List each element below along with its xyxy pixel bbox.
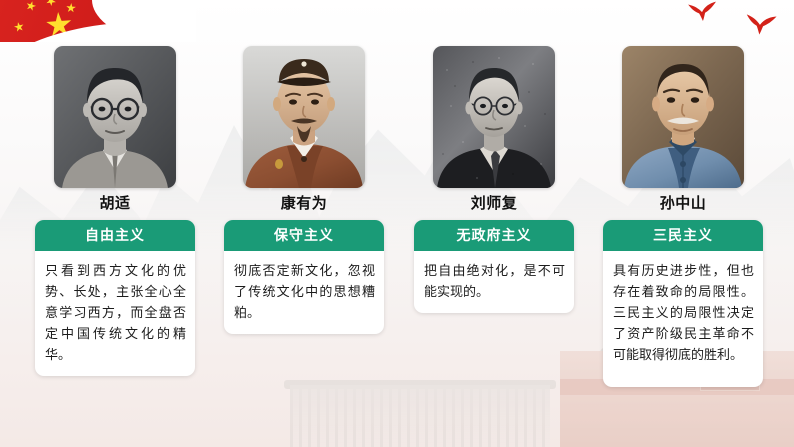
portrait-liu-shifu	[433, 46, 555, 188]
ideology-card: 自由主义 只看到西方文化的优势、长处，主张全心全意学习西方，而全盘否定中国传统文…	[35, 220, 195, 376]
figure-column: 康有为 保守主义 彻底否定新文化，忽视了传统文化中的思想糟粕。	[222, 46, 386, 334]
portrait-kang-youwei	[243, 46, 365, 188]
person-name: 刘师复	[471, 194, 518, 214]
card-title: 保守主义	[224, 220, 384, 251]
card-title: 自由主义	[35, 220, 195, 251]
person-name: 胡适	[99, 194, 130, 214]
ideology-card: 无政府主义 把自由绝对化，是不可能实现的。	[414, 220, 574, 313]
figures-grid: 胡适 自由主义 只看到西方文化的优势、长处，主张全心全意学习西方，而全盘否定中国…	[0, 0, 794, 447]
figure-column: 刘师复 无政府主义 把自由绝对化，是不可能实现的。	[412, 46, 576, 313]
card-title: 三民主义	[603, 220, 763, 251]
card-text: 把自由绝对化，是不可能实现的。	[414, 251, 574, 313]
figure-column: 孙中山 三民主义 具有历史进步性，但也存在着致命的局限性。三民主义的局限性决定了…	[601, 46, 765, 387]
portrait-sun-yat-sen	[622, 46, 744, 188]
card-title: 无政府主义	[414, 220, 574, 251]
person-name: 孙中山	[660, 194, 707, 214]
card-text: 具有历史进步性，但也存在着致命的局限性。三民主义的局限性决定了资产阶级民主革命不…	[603, 251, 763, 387]
card-text: 只看到西方文化的优势、长处，主张全心全意学习西方，而全盘否定中国传统文化的精华。	[35, 251, 195, 376]
portrait-hu-shi	[54, 46, 176, 188]
figure-column: 胡适 自由主义 只看到西方文化的优势、长处，主张全心全意学习西方，而全盘否定中国…	[33, 46, 197, 376]
ideology-card: 保守主义 彻底否定新文化，忽视了传统文化中的思想糟粕。	[224, 220, 384, 334]
ideology-card: 三民主义 具有历史进步性，但也存在着致命的局限性。三民主义的局限性决定了资产阶级…	[603, 220, 763, 387]
person-name: 康有为	[281, 194, 328, 214]
card-text: 彻底否定新文化，忽视了传统文化中的思想糟粕。	[224, 251, 384, 334]
slide-canvas: 胡适 自由主义 只看到西方文化的优势、长处，主张全心全意学习西方，而全盘否定中国…	[0, 0, 794, 447]
